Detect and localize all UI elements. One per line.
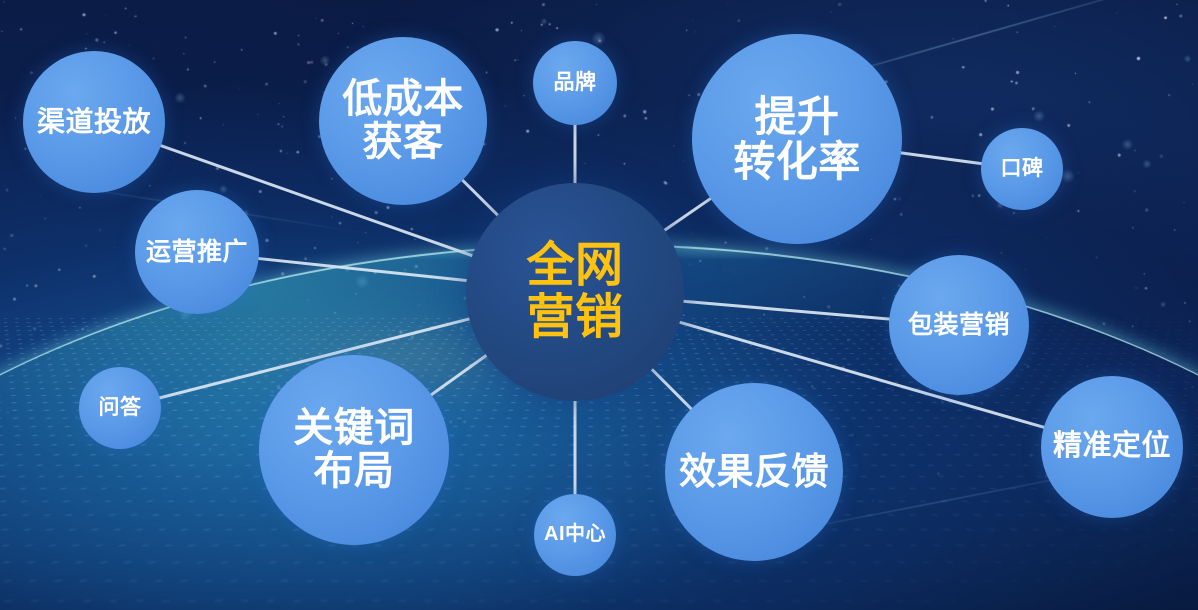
node-label: 品牌 xyxy=(554,72,597,95)
node-low-cost-acquire[interactable]: 低成本获客 xyxy=(319,37,487,205)
node-label-line: 渠道投放 xyxy=(37,107,151,137)
node-label: 低成本获客 xyxy=(342,78,464,164)
node-label-line: 问答 xyxy=(99,397,142,420)
node-operation-promote[interactable]: 运营推广 xyxy=(135,190,259,314)
node-brand[interactable]: 品牌 xyxy=(533,41,617,125)
node-label-line: 获客 xyxy=(342,121,464,164)
node-keyword-layout[interactable]: 关键词布局 xyxy=(259,355,449,545)
link-line xyxy=(461,179,499,217)
node-label-line: 口碑 xyxy=(1001,158,1044,181)
node-label-line: 运营推广 xyxy=(146,239,248,266)
node-label: 提升转化率 xyxy=(733,94,861,185)
node-label-line: 效果反馈 xyxy=(679,452,829,492)
node-raise-conversion[interactable]: 提升转化率 xyxy=(692,34,902,244)
node-center-quanwang-yingxiao[interactable]: 全网营销 xyxy=(466,183,684,401)
node-ai-center[interactable]: AI中心 xyxy=(534,494,616,576)
node-label-line: 包装营销 xyxy=(908,312,1010,339)
node-label: 关键词布局 xyxy=(293,407,415,493)
node-label: 问答 xyxy=(99,397,142,420)
node-package-marketing[interactable]: 包装营销 xyxy=(889,255,1029,395)
node-label: 效果反馈 xyxy=(679,452,829,492)
node-word-of-mouth[interactable]: 口碑 xyxy=(981,128,1063,210)
node-label: 包装营销 xyxy=(908,312,1010,339)
node-precise-position[interactable]: 精准定位 xyxy=(1041,376,1183,518)
link-line xyxy=(682,301,892,319)
node-label-line: 精准定位 xyxy=(1053,431,1171,462)
mind-map-canvas: 渠道投放低成本获客品牌提升转化率口碑运营推广包装营销问答关键词布局精准定位效果反… xyxy=(0,0,1198,610)
node-label-line: 品牌 xyxy=(554,72,597,95)
node-qa[interactable]: 问答 xyxy=(79,367,161,449)
node-label-line: 布局 xyxy=(293,450,415,493)
link-line xyxy=(257,258,469,280)
node-label-line: AI中心 xyxy=(544,524,606,546)
link-line xyxy=(650,368,692,410)
node-label: 精准定位 xyxy=(1053,431,1171,462)
node-label-line: 关键词 xyxy=(293,407,415,450)
node-label: 口碑 xyxy=(1001,158,1044,181)
link-line xyxy=(430,354,488,396)
node-label-line: 转化率 xyxy=(733,139,861,184)
node-label: AI中心 xyxy=(544,524,606,546)
node-label-line: 营销 xyxy=(526,292,623,344)
link-line xyxy=(663,197,712,231)
node-effect-feedback[interactable]: 效果反馈 xyxy=(665,383,843,561)
node-label: 运营推广 xyxy=(146,239,248,266)
link-line xyxy=(899,153,983,164)
node-label-line: 低成本 xyxy=(342,78,464,121)
node-label: 全网营销 xyxy=(526,240,623,344)
node-label-line: 提升 xyxy=(733,94,861,139)
node-label-line: 全网 xyxy=(526,240,623,292)
node-label: 渠道投放 xyxy=(37,107,151,137)
node-channel-delivery[interactable]: 渠道投放 xyxy=(23,51,165,193)
